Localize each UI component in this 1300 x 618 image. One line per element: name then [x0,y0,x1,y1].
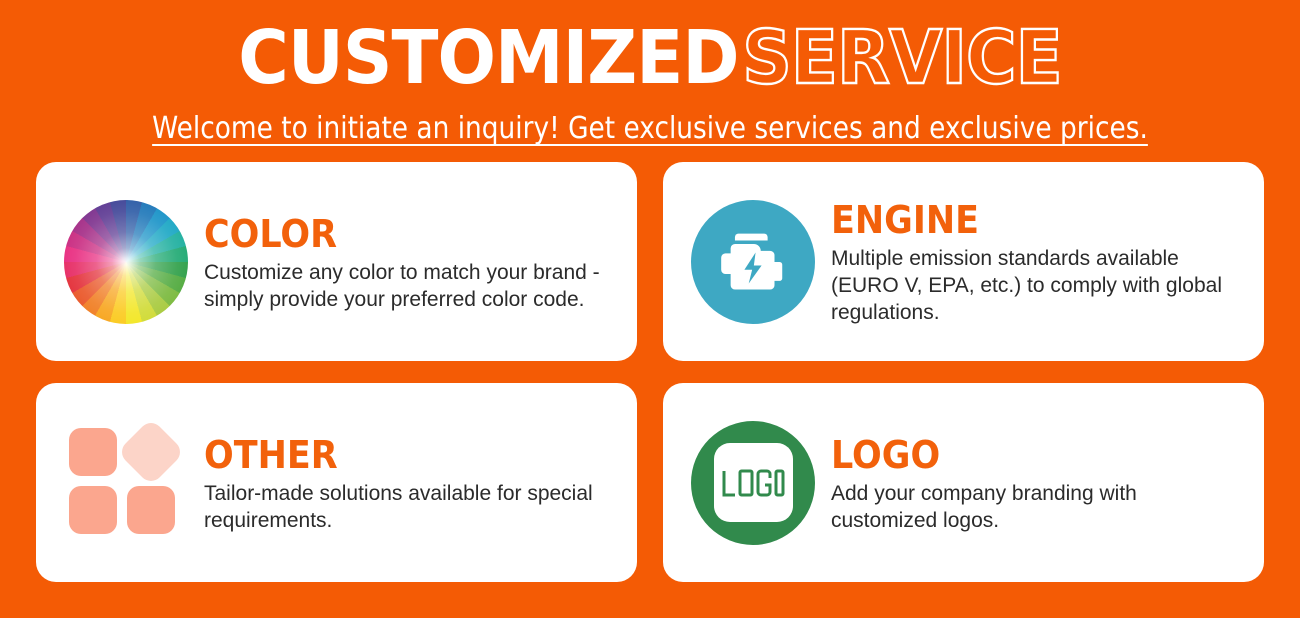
logo-card-description: Add your company branding with customize… [831,480,1242,534]
banner-header: CUSTOMIZEDSERVICE Welcome to initiate an… [0,0,1300,148]
engine-card-description: Multiple emission standards available (E… [831,245,1242,326]
shape-diamond-top-right [117,418,185,486]
engine-card-icon-wrap [689,198,817,326]
logo-card-icon-wrap [689,419,817,547]
engine-card-title: ENGINE [831,199,1209,241]
feature-card-engine[interactable]: ENGINE Multiple emission standards avail… [663,162,1264,361]
check-engine-icon [691,200,815,324]
shapes-grid-icon [67,424,185,542]
logo-badge-icon [691,421,815,545]
engine-card-body: ENGINE Multiple emission standards avail… [831,197,1242,326]
feature-card-other[interactable]: OTHER Tailor-made solutions available fo… [36,383,637,582]
color-card-description: Customize any color to match your brand … [204,259,615,313]
feature-card-color[interactable]: COLOR Customize any color to match your … [36,162,637,361]
feature-card-logo[interactable]: LOGO Add your company branding with cust… [663,383,1264,582]
logo-card-body: LOGO Add your company branding with cust… [831,432,1242,534]
shape-square-bottom-right [127,486,175,534]
feature-card-grid: COLOR Customize any color to match your … [0,148,1300,618]
other-card-title: OTHER [204,434,582,476]
page-title: CUSTOMIZEDSERVICE [46,16,1255,100]
color-wheel-icon [64,200,188,324]
logo-badge-plate [714,443,793,522]
color-card-icon-wrap [62,198,190,326]
shape-square-top-left [69,428,117,476]
color-card-body: COLOR Customize any color to match your … [204,211,615,313]
customized-service-banner: CUSTOMIZEDSERVICE Welcome to initiate an… [0,0,1300,618]
page-title-outline: SERVICE [742,15,1061,101]
other-card-body: OTHER Tailor-made solutions available fo… [204,432,615,534]
other-card-description: Tailor-made solutions available for spec… [204,480,615,534]
shape-square-bottom-left [69,486,117,534]
page-subtitle: Welcome to initiate an inquiry! Get excl… [78,110,1222,148]
page-title-solid: CUSTOMIZED [238,15,738,101]
other-card-icon-wrap [62,419,190,547]
logo-card-title: LOGO [831,434,1209,476]
color-card-title: COLOR [204,213,582,255]
